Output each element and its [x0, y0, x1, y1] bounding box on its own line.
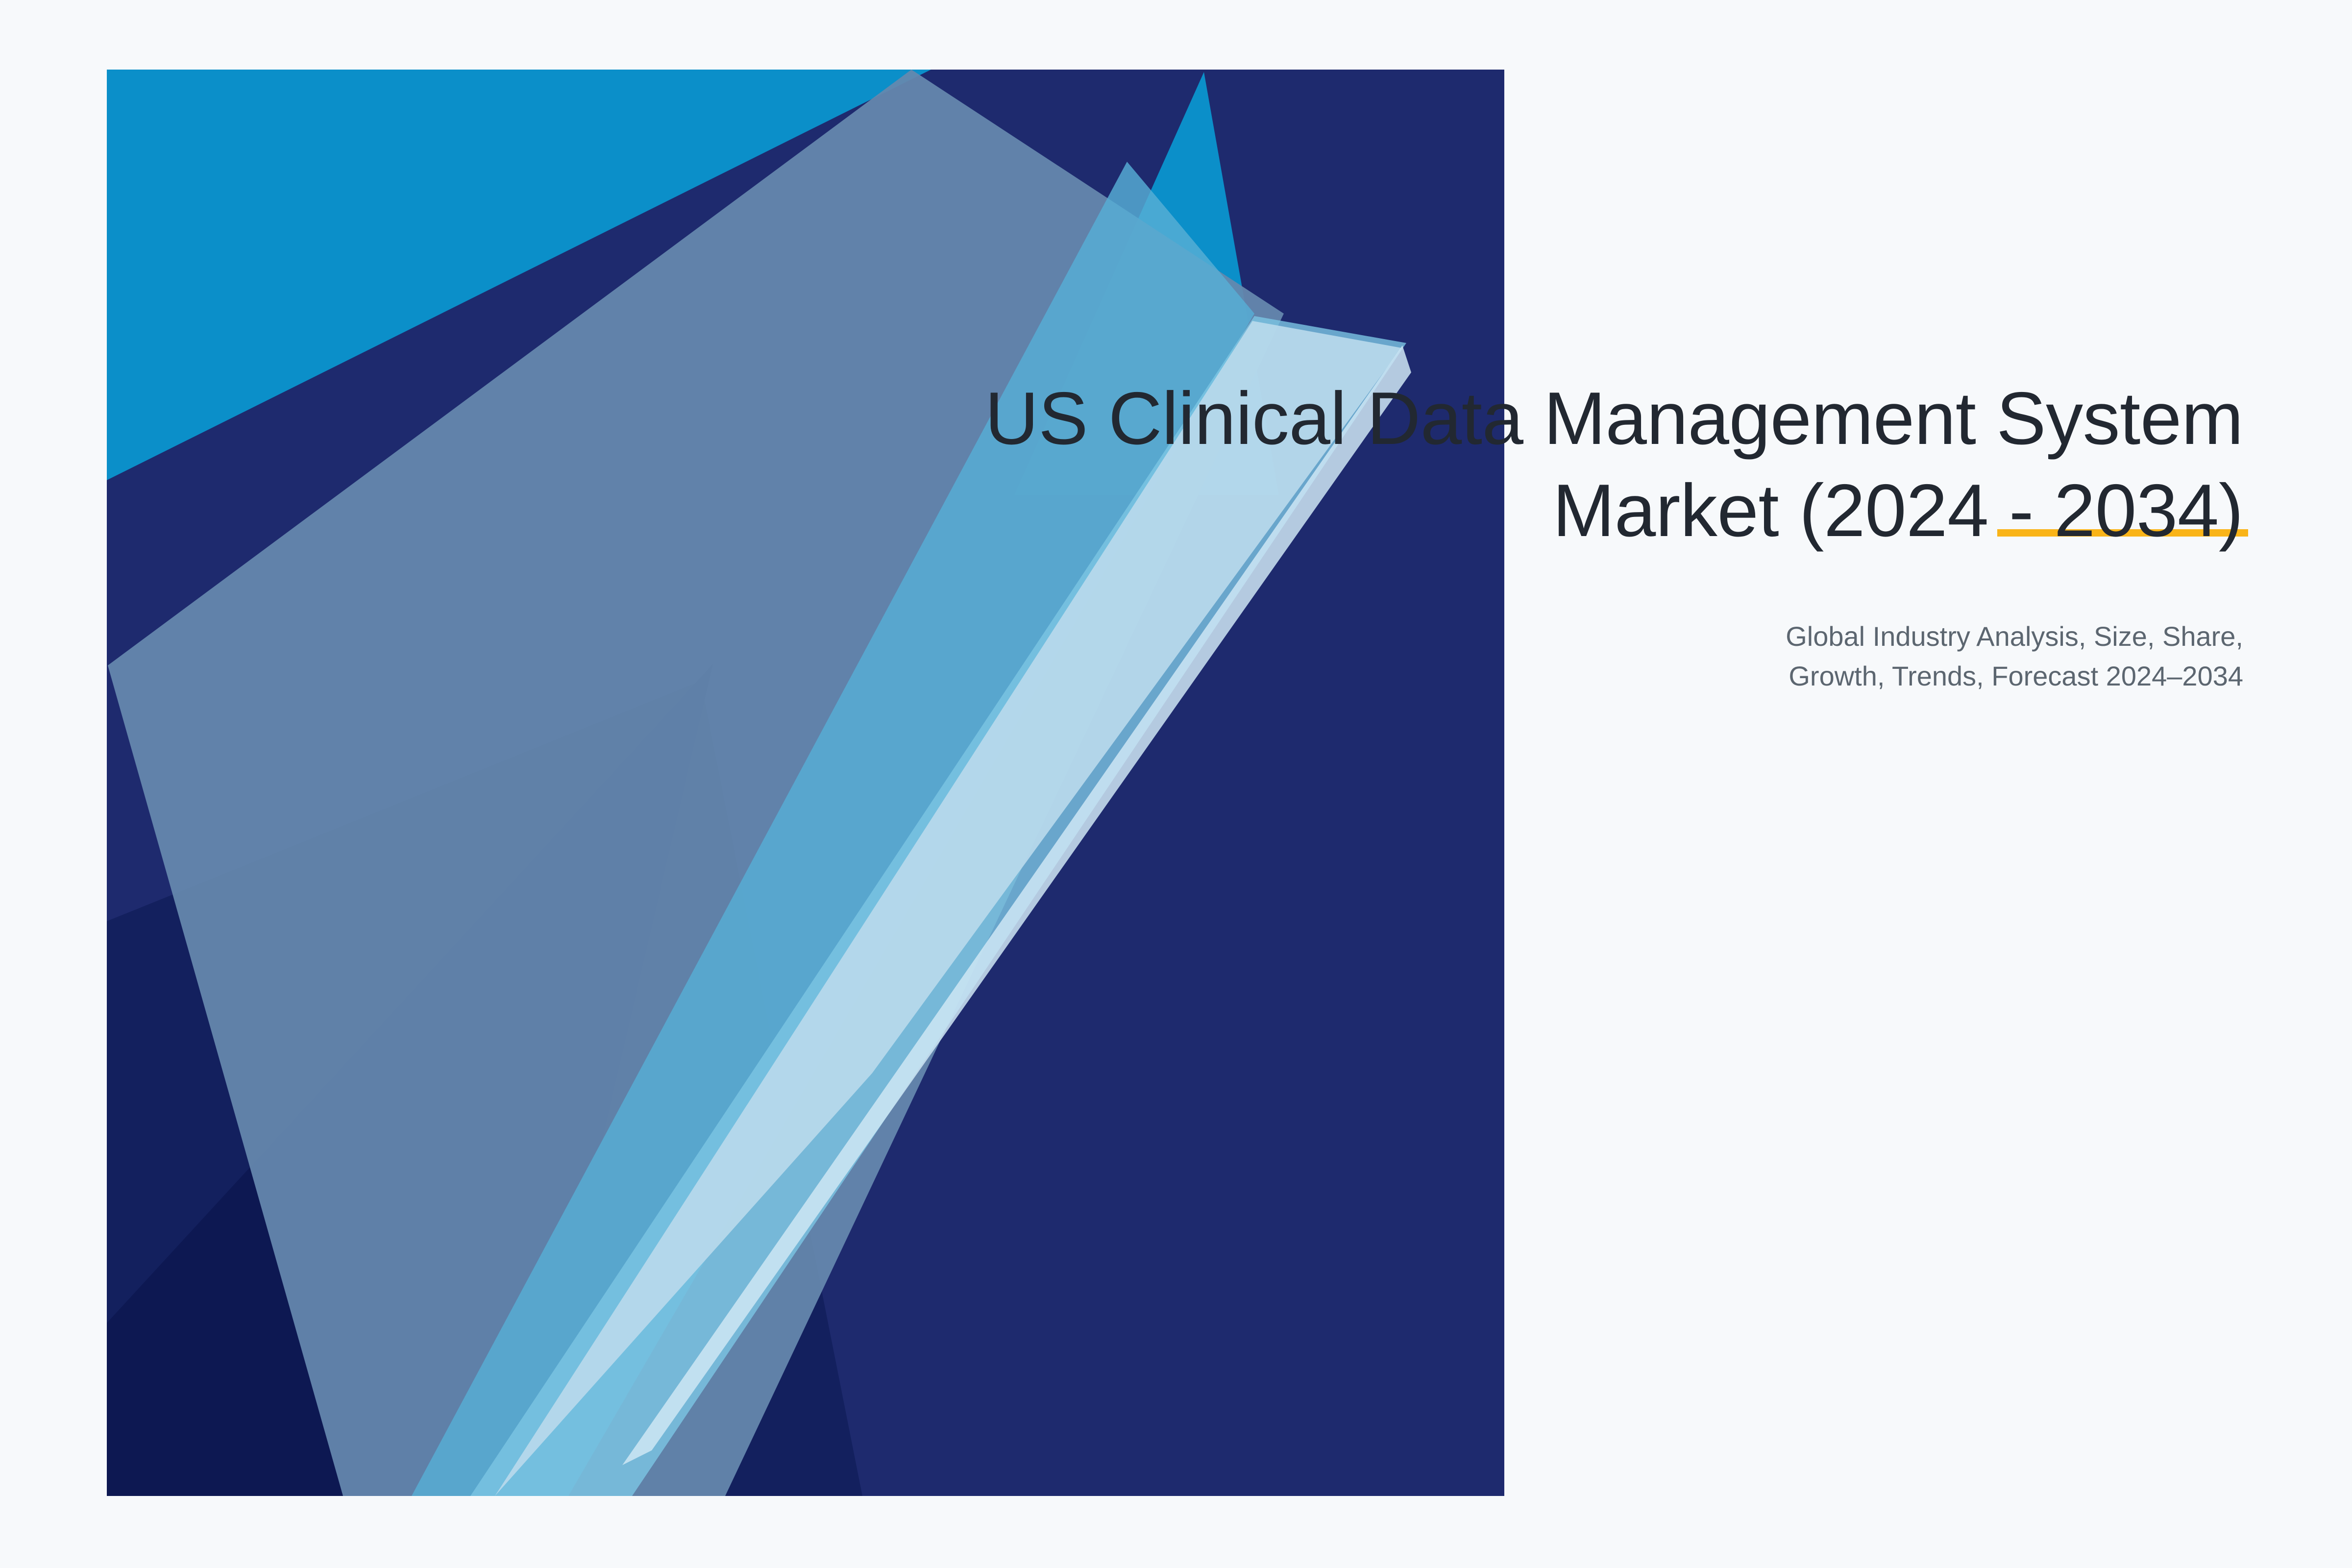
steel-blue-overlay-shape: [108, 70, 1284, 1496]
page-title: US Clinical Data Management System Marke…: [773, 372, 2243, 557]
page-subtitle: Global Industry Analysis, Size, Share, G…: [773, 557, 2243, 696]
abstract-geometric-banner: [0, 0, 2352, 1568]
sky-blue-band-shape: [412, 162, 1254, 1496]
deep-navy-lower-block-shape: [107, 70, 1504, 1496]
cover-text-block: US Clinical Data Management System Marke…: [773, 372, 2243, 696]
deep-navy-body-shape: [107, 681, 862, 1496]
navy-diagonal-band-shape: [107, 70, 1504, 1496]
darkest-navy-spike-shape: [107, 664, 713, 1496]
azure-field-shape: [107, 70, 1504, 1496]
report-cover-page: US Clinical Data Management System Marke…: [0, 0, 2352, 1568]
title-wrapper: US Clinical Data Management System Marke…: [773, 372, 2243, 557]
